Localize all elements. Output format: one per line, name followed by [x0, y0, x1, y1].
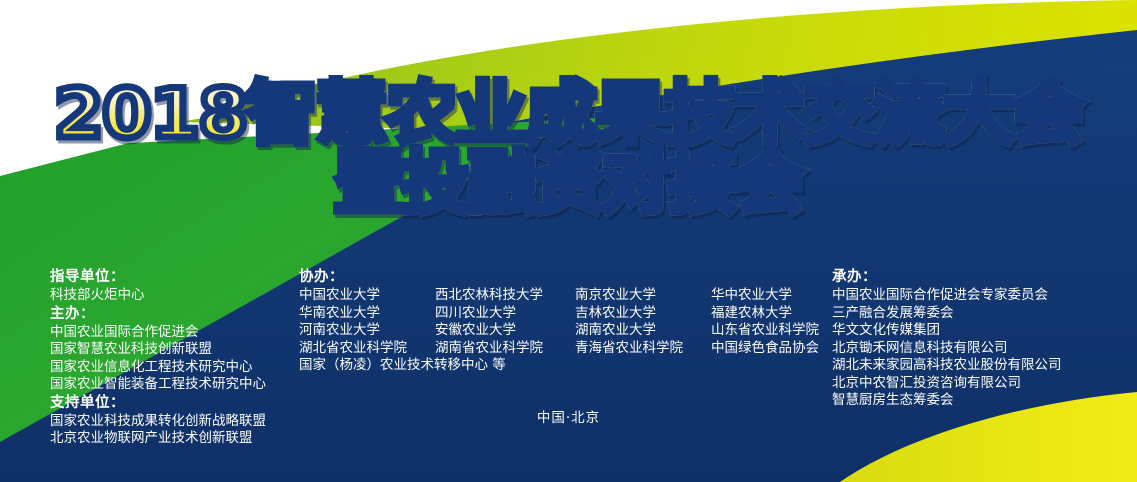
co-organizer-item: 南京农业大学 [575, 287, 711, 305]
host-item: 中国农业国际合作促进会专家委员会 [832, 287, 1062, 305]
host-item: 华文文化传媒集团 [832, 322, 1062, 340]
heading-organizer: 主办： [50, 305, 266, 324]
host-item: 北京中农智汇投资咨询有限公司 [832, 375, 1062, 393]
event-location: 中国·北京 [0, 406, 1137, 426]
organizer-item: 国家智慧农业科技创新联盟 [50, 341, 266, 359]
co-organizer-item: 安徽农业大学 [435, 322, 575, 340]
co-organizer-item: 西北农林科技大学 [435, 287, 575, 305]
column-hosts: 承办： 中国农业国际合作促进会专家委员会 三产融合发展筹委会 华文文化传媒集团 … [832, 268, 1062, 410]
heading-guidance: 指导单位： [50, 268, 266, 287]
co-organizer-item: 湖北省农业科学院 [299, 340, 435, 358]
co-organizer-item: 中国绿色食品协会 [711, 340, 819, 358]
conference-banner: 2018智慧农业成果技术交流大会 暨投融资对接会 指导单位： 科技部火炬中心 主… [0, 0, 1137, 482]
host-item: 北京锄禾网信息科技有限公司 [832, 340, 1062, 358]
co-organizer-item: 福建农林大学 [711, 305, 819, 323]
co-organizer-item: 四川农业大学 [435, 305, 575, 323]
host-item: 湖北未来家园高科技农业股份有限公司 [832, 357, 1062, 375]
co-organizer-item: 湖南农业大学 [575, 322, 711, 340]
organizer-item: 中国农业国际合作促进会 [50, 324, 266, 342]
column-co-organizers: 协办： 中国农业大学 西北农林科技大学 南京农业大学 华中农业大学 华南农业大学… [299, 268, 819, 375]
co-organizer-item: 山东省农业科学院 [711, 322, 819, 340]
host-item: 三产融合发展筹委会 [832, 305, 1062, 323]
co-organizer-last-item: 国家（杨凌）农业技术转移中心 等 [299, 357, 819, 375]
co-organizer-item: 青海省农业科学院 [575, 340, 711, 358]
co-organizer-item: 中国农业大学 [299, 287, 435, 305]
co-organizer-item: 华南农业大学 [299, 305, 435, 323]
organizer-item: 国家农业信息化工程技术研究中心 [50, 359, 266, 377]
supporter-item: 北京农业物联网产业技术创新联盟 [50, 430, 266, 448]
co-organizer-item: 河南农业大学 [299, 322, 435, 340]
co-organizer-item: 华中农业大学 [711, 287, 819, 305]
co-organizer-item: 吉林农业大学 [575, 305, 711, 323]
guidance-item: 科技部火炬中心 [50, 287, 266, 305]
co-organizer-item: 湖南省农业科学院 [435, 340, 575, 358]
organizer-item: 国家农业智能装备工程技术研究中心 [50, 376, 266, 394]
co-organizer-grid: 中国农业大学 西北农林科技大学 南京农业大学 华中农业大学 华南农业大学 四川农… [299, 287, 819, 357]
heading-host: 承办： [832, 268, 1062, 287]
heading-co-organizer: 协办： [299, 268, 819, 287]
